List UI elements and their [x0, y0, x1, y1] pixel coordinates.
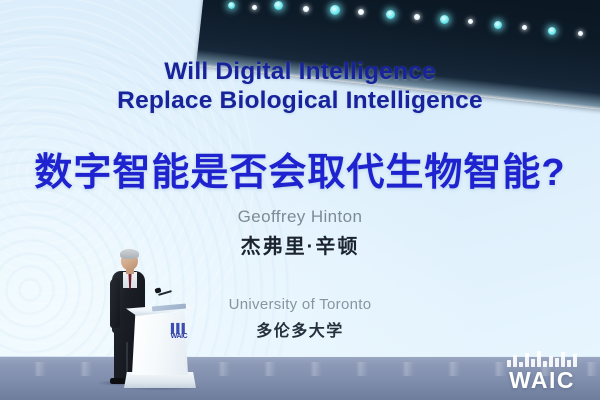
skyline-bar-5 — [531, 359, 535, 367]
spotlight-8 — [414, 14, 420, 20]
waic-watermark-text: WAIC — [498, 369, 586, 392]
spotlight-14 — [578, 31, 583, 36]
spotlight-4 — [303, 6, 309, 12]
skyline-bar-8 — [549, 356, 553, 367]
spotlight-5 — [330, 5, 340, 15]
speaker-arm — [110, 278, 120, 328]
spotlight-3 — [274, 1, 283, 10]
affiliation-en: University of Toronto — [0, 296, 600, 313]
speaker-name-cn: 杰弗里·辛顿 — [0, 230, 600, 259]
podium-logo-text: WAIC — [168, 333, 190, 340]
skyline-bar-4 — [525, 353, 529, 367]
skyline-bar-6 — [537, 351, 541, 367]
skyline-bar-10 — [561, 352, 565, 367]
slide-title-cn: 数字智能是否会取代生物智能? — [0, 141, 600, 196]
spotlight-12 — [522, 25, 527, 30]
skyline-bar-9 — [555, 358, 559, 367]
spotlight-7 — [386, 10, 395, 19]
affiliation-cn: 多伦多大学 — [0, 317, 600, 341]
spotlight-11 — [494, 21, 502, 29]
podium-waic-logo: ▌▌▌ WAIC — [168, 324, 190, 344]
speaker-name-en: Geoffrey Hinton — [0, 207, 600, 227]
spotlight-2 — [252, 5, 257, 10]
skyline-bar-1 — [507, 360, 511, 367]
spotlight-10 — [468, 19, 473, 24]
speaker-hair — [120, 249, 139, 259]
skyline-bar-11 — [567, 360, 571, 367]
spotlight-6 — [358, 9, 364, 15]
slide-title-en-line1: Will Digital Intelligence — [0, 58, 600, 86]
podium-skyline-icon: ▌▌▌ — [168, 324, 190, 333]
spotlight-13 — [548, 27, 556, 35]
waic-watermark: WAIC — [498, 350, 586, 392]
spotlight-9 — [440, 15, 449, 24]
skyline-bar-2 — [513, 355, 517, 367]
conference-stage-photo: Will Digital Intelligence Replace Biolog… — [0, 0, 600, 400]
slide-title-en-line2: Replace Biological Intelligence — [0, 87, 600, 115]
waic-skyline-icon — [498, 350, 586, 367]
spotlight-1 — [228, 2, 235, 9]
skyline-bar-12 — [573, 354, 577, 367]
